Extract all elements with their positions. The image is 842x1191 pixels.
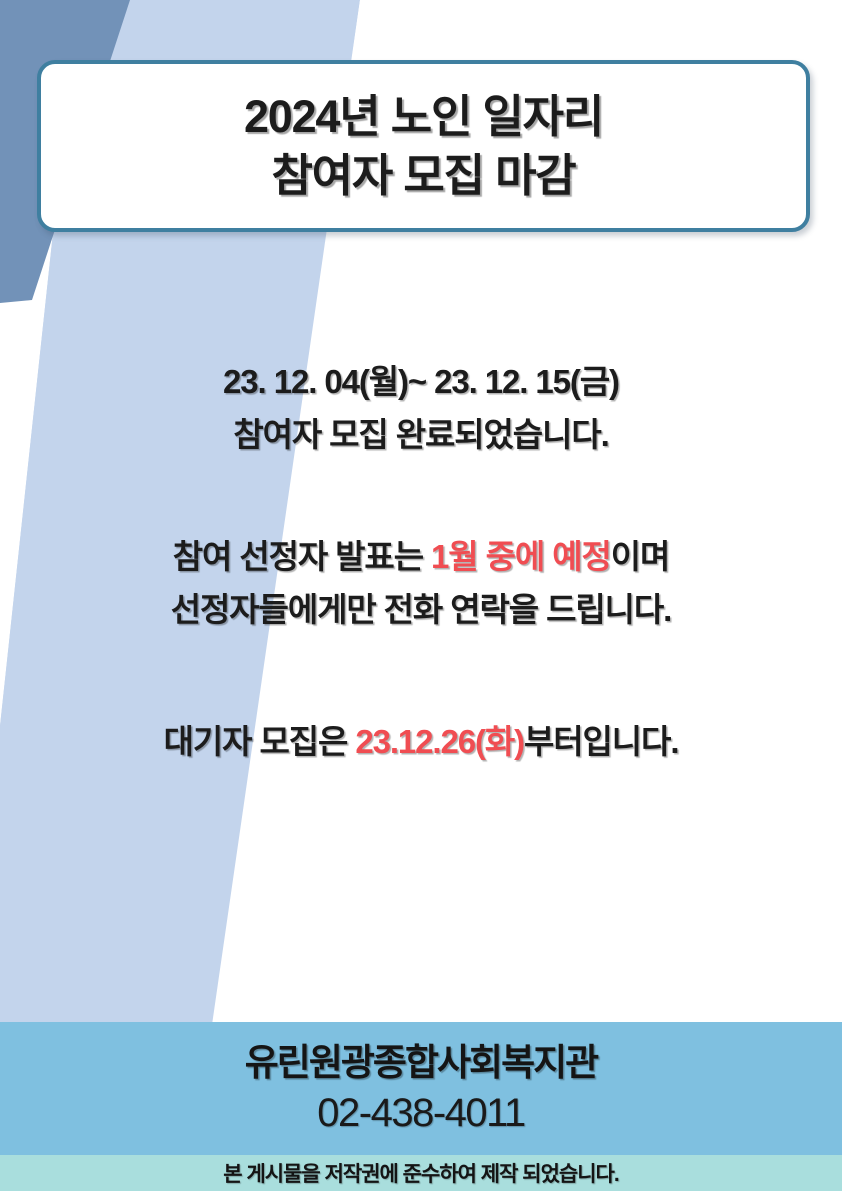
body-content: 23. 12. 04(월)~ 23. 12. 15(금) 참여자 모집 완료되었… [0,355,842,768]
period-line: 23. 12. 04(월)~ 23. 12. 15(금) [0,355,842,408]
waitlist-prefix: 대기자 모집은 [164,723,356,760]
title-line-2: 참여자 모집 마감 [271,149,575,202]
paragraph-waitlist: 대기자 모집은 23.12.26(화)부터입니다. [0,715,842,768]
title-box: 2024년 노인 일자리 참여자 모집 마감 [37,60,810,232]
organization-name: 유린원광종합사회복지관 [245,1040,597,1086]
footer-contact-band: 유린원광종합사회복지관 02-438-4011 [0,1022,842,1155]
paragraph-recruitment-period: 23. 12. 04(월)~ 23. 12. 15(금) 참여자 모집 완료되었… [0,355,842,462]
poster-root: 2024년 노인 일자리 참여자 모집 마감 23. 12. 04(월)~ 23… [0,0,842,1191]
paragraph-announcement: 참여 선정자 발표는 1월 중에 예정이며 선정자들에게만 전화 연락을 드립니… [0,530,842,637]
waitlist-line: 대기자 모집은 23.12.26(화)부터입니다. [0,715,842,768]
announcement-highlight: 1월 중에 예정 [431,538,611,575]
title-line-1: 2024년 노인 일자리 [244,90,603,143]
period-status-line: 참여자 모집 완료되었습니다. [0,408,842,461]
copyright-note: 본 게시물을 저작권에 준수하여 제작 되었습니다. [223,1158,618,1188]
announcement-suffix: 이며 [611,538,670,575]
announcement-prefix: 참여 선정자 발표는 [173,538,431,575]
organization-phone: 02-438-4011 [317,1089,524,1137]
waitlist-highlight: 23.12.26(화) [355,723,524,760]
waitlist-suffix: 부터입니다. [524,723,678,760]
footer-copyright-band: 본 게시물을 저작권에 준수하여 제작 되었습니다. [0,1155,842,1191]
announcement-contact-line: 선정자들에게만 전화 연락을 드립니다. [0,583,842,636]
announcement-line: 참여 선정자 발표는 1월 중에 예정이며 [0,530,842,583]
